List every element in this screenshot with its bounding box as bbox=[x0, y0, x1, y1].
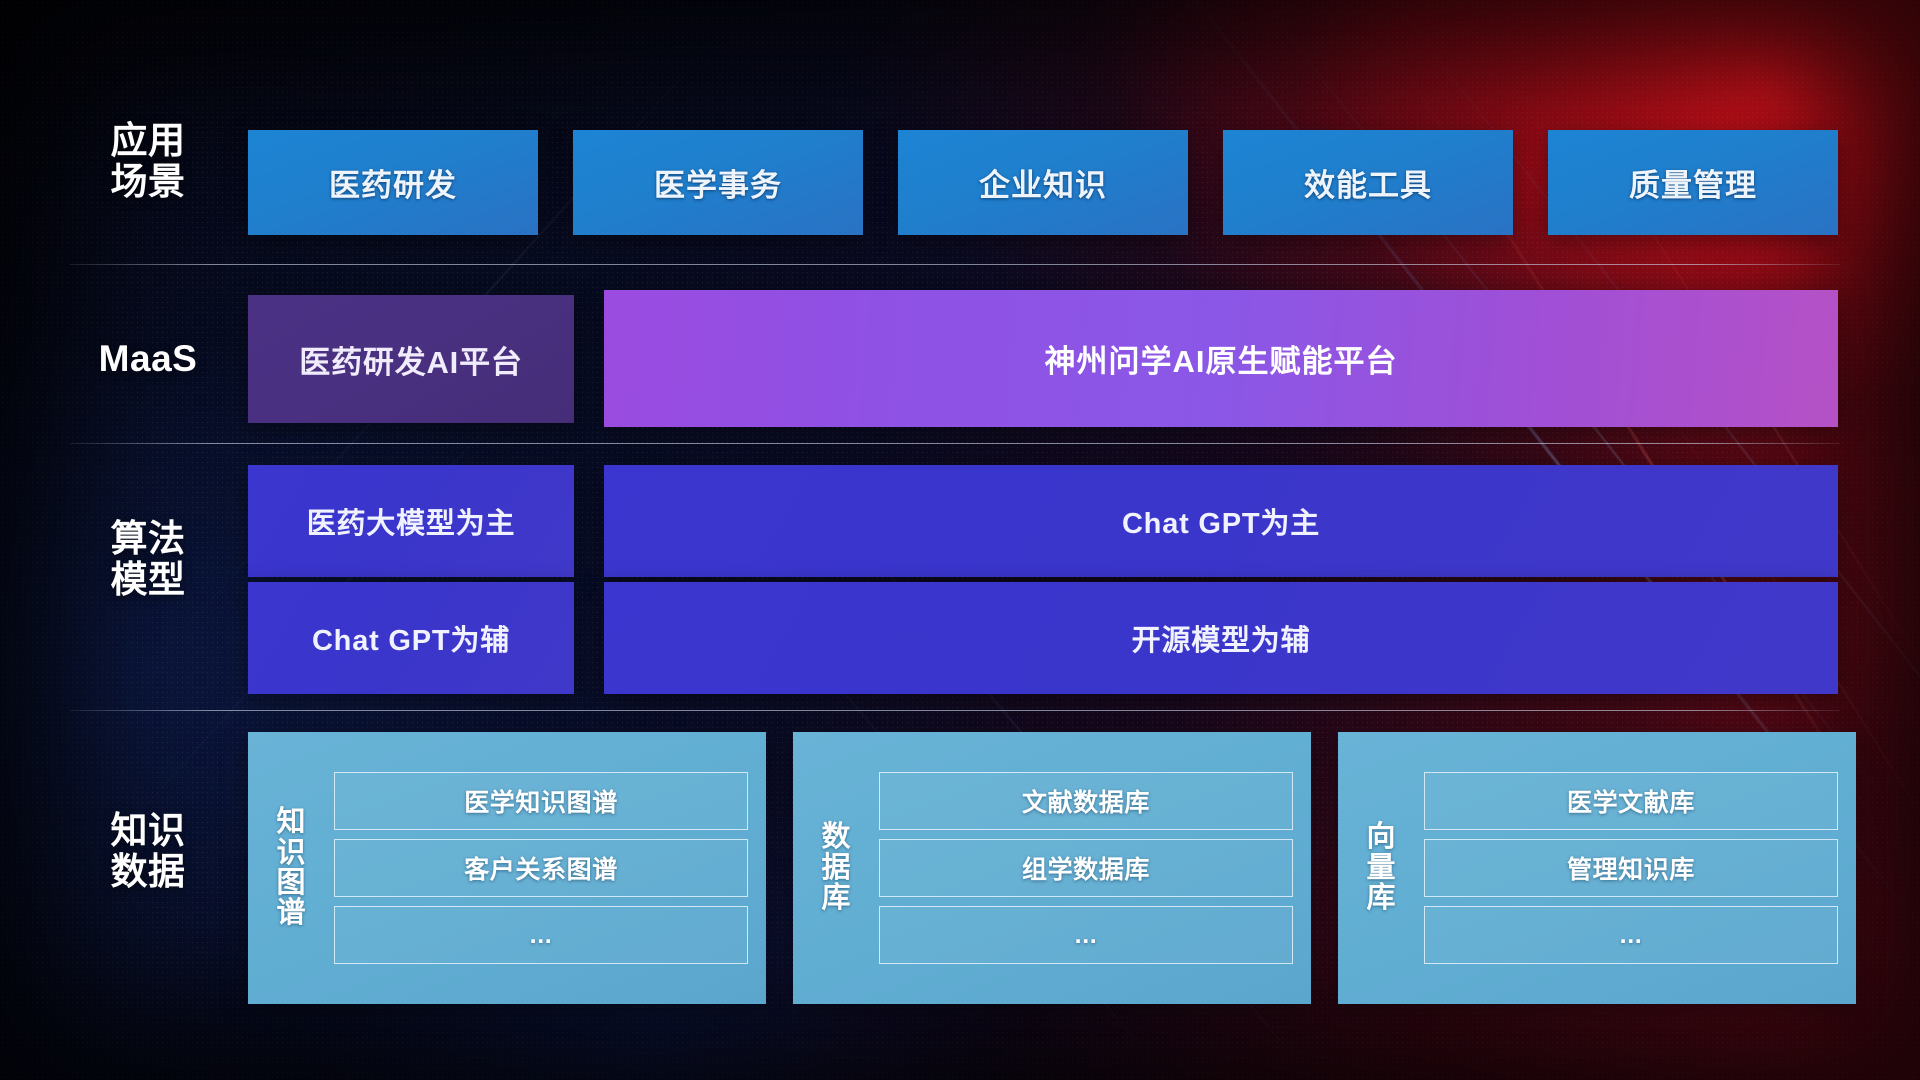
knowledge-group-0-item-0[interactable]: 医学知识图谱 bbox=[334, 772, 748, 830]
app-box-0-label: 医药研发 bbox=[329, 160, 457, 205]
row-label-maas: MaaS bbox=[78, 338, 218, 379]
app-box-3[interactable]: 效能工具 bbox=[1223, 130, 1513, 235]
knowledge-group-1-item-0-label: 文献数据库 bbox=[1022, 783, 1150, 819]
knowledge-group-1: 数 据 库 文献数据库 组学数据库 ... bbox=[793, 732, 1311, 1004]
algorithm-box-row0-left-label: 医药大模型为主 bbox=[307, 500, 516, 542]
knowledge-group-2-item-0[interactable]: 医学文献库 bbox=[1424, 772, 1838, 830]
maas-right-box[interactable]: 神州问学AI原生赋能平台 bbox=[604, 290, 1838, 427]
knowledge-group-0-item-1-label: 客户关系图谱 bbox=[464, 850, 618, 886]
knowledge-group-2-item-0-label: 医学文献库 bbox=[1567, 783, 1695, 819]
knowledge-group-2-item-2-label: ... bbox=[1620, 921, 1643, 950]
knowledge-group-2-item-1[interactable]: 管理知识库 bbox=[1424, 839, 1838, 897]
app-box-1[interactable]: 医学事务 bbox=[573, 130, 863, 235]
knowledge-group-0-item-0-label: 医学知识图谱 bbox=[464, 783, 618, 819]
knowledge-group-1-title: 数 据 库 bbox=[793, 748, 879, 988]
knowledge-group-0-item-2[interactable]: ... bbox=[334, 906, 748, 964]
knowledge-group-2-item-2[interactable]: ... bbox=[1424, 906, 1838, 964]
row-label-application-scenarios: 应用 场景 bbox=[78, 120, 218, 203]
app-box-2-label: 企业知识 bbox=[979, 160, 1107, 205]
slide-background: 应用 场景 医药研发 医学事务 企业知识 效能工具 质量管理 MaaS 医药研发… bbox=[0, 0, 1920, 1080]
maas-left-box[interactable]: 医药研发AI平台 bbox=[248, 295, 574, 423]
algorithm-box-row0-right-label: Chat GPT为主 bbox=[1122, 500, 1320, 542]
knowledge-group-0-item-1[interactable]: 客户关系图谱 bbox=[334, 839, 748, 897]
app-box-4[interactable]: 质量管理 bbox=[1548, 130, 1838, 235]
knowledge-group-1-item-2[interactable]: ... bbox=[879, 906, 1293, 964]
knowledge-group-1-item-2-label: ... bbox=[1075, 921, 1098, 950]
knowledge-group-1-item-0[interactable]: 文献数据库 bbox=[879, 772, 1293, 830]
knowledge-group-2-title: 向 量 库 bbox=[1338, 748, 1424, 988]
maas-right-box-label: 神州问学AI原生赋能平台 bbox=[1045, 336, 1398, 381]
row-label-knowledge-data: 知识 数据 bbox=[78, 810, 218, 893]
divider-after-algorithm-model bbox=[70, 710, 1840, 711]
knowledge-group-1-item-1[interactable]: 组学数据库 bbox=[879, 839, 1293, 897]
algorithm-box-row0-left[interactable]: 医药大模型为主 bbox=[248, 465, 574, 577]
algorithm-box-row1-left-label: Chat GPT为辅 bbox=[312, 617, 510, 659]
knowledge-group-0-title: 知 识 图 谱 bbox=[248, 748, 334, 988]
row-label-algorithm-model: 算法 模型 bbox=[78, 518, 218, 601]
knowledge-group-2: 向 量 库 医学文献库 管理知识库 ... bbox=[1338, 732, 1856, 1004]
algorithm-box-row0-right[interactable]: Chat GPT为主 bbox=[604, 465, 1838, 577]
divider-after-maas bbox=[70, 443, 1840, 444]
algorithm-box-row1-right-label: 开源模型为辅 bbox=[1132, 617, 1311, 659]
knowledge-group-0: 知 识 图 谱 医学知识图谱 客户关系图谱 ... bbox=[248, 732, 766, 1004]
app-box-0[interactable]: 医药研发 bbox=[248, 130, 538, 235]
maas-left-box-label: 医药研发AI平台 bbox=[299, 337, 522, 382]
app-box-1-label: 医学事务 bbox=[654, 160, 782, 205]
algorithm-box-row1-right[interactable]: 开源模型为辅 bbox=[604, 582, 1838, 694]
knowledge-group-2-item-1-label: 管理知识库 bbox=[1567, 850, 1695, 886]
knowledge-group-0-item-2-label: ... bbox=[530, 921, 553, 950]
knowledge-group-1-item-1-label: 组学数据库 bbox=[1022, 850, 1150, 886]
divider-after-application-scenarios bbox=[70, 264, 1840, 265]
knowledge-group-1-items: 文献数据库 组学数据库 ... bbox=[879, 748, 1293, 988]
knowledge-group-2-items: 医学文献库 管理知识库 ... bbox=[1424, 748, 1838, 988]
app-box-2[interactable]: 企业知识 bbox=[898, 130, 1188, 235]
algorithm-box-row1-left[interactable]: Chat GPT为辅 bbox=[248, 582, 574, 694]
app-box-4-label: 质量管理 bbox=[1629, 160, 1757, 205]
app-box-3-label: 效能工具 bbox=[1304, 160, 1432, 205]
knowledge-group-0-items: 医学知识图谱 客户关系图谱 ... bbox=[334, 748, 748, 988]
